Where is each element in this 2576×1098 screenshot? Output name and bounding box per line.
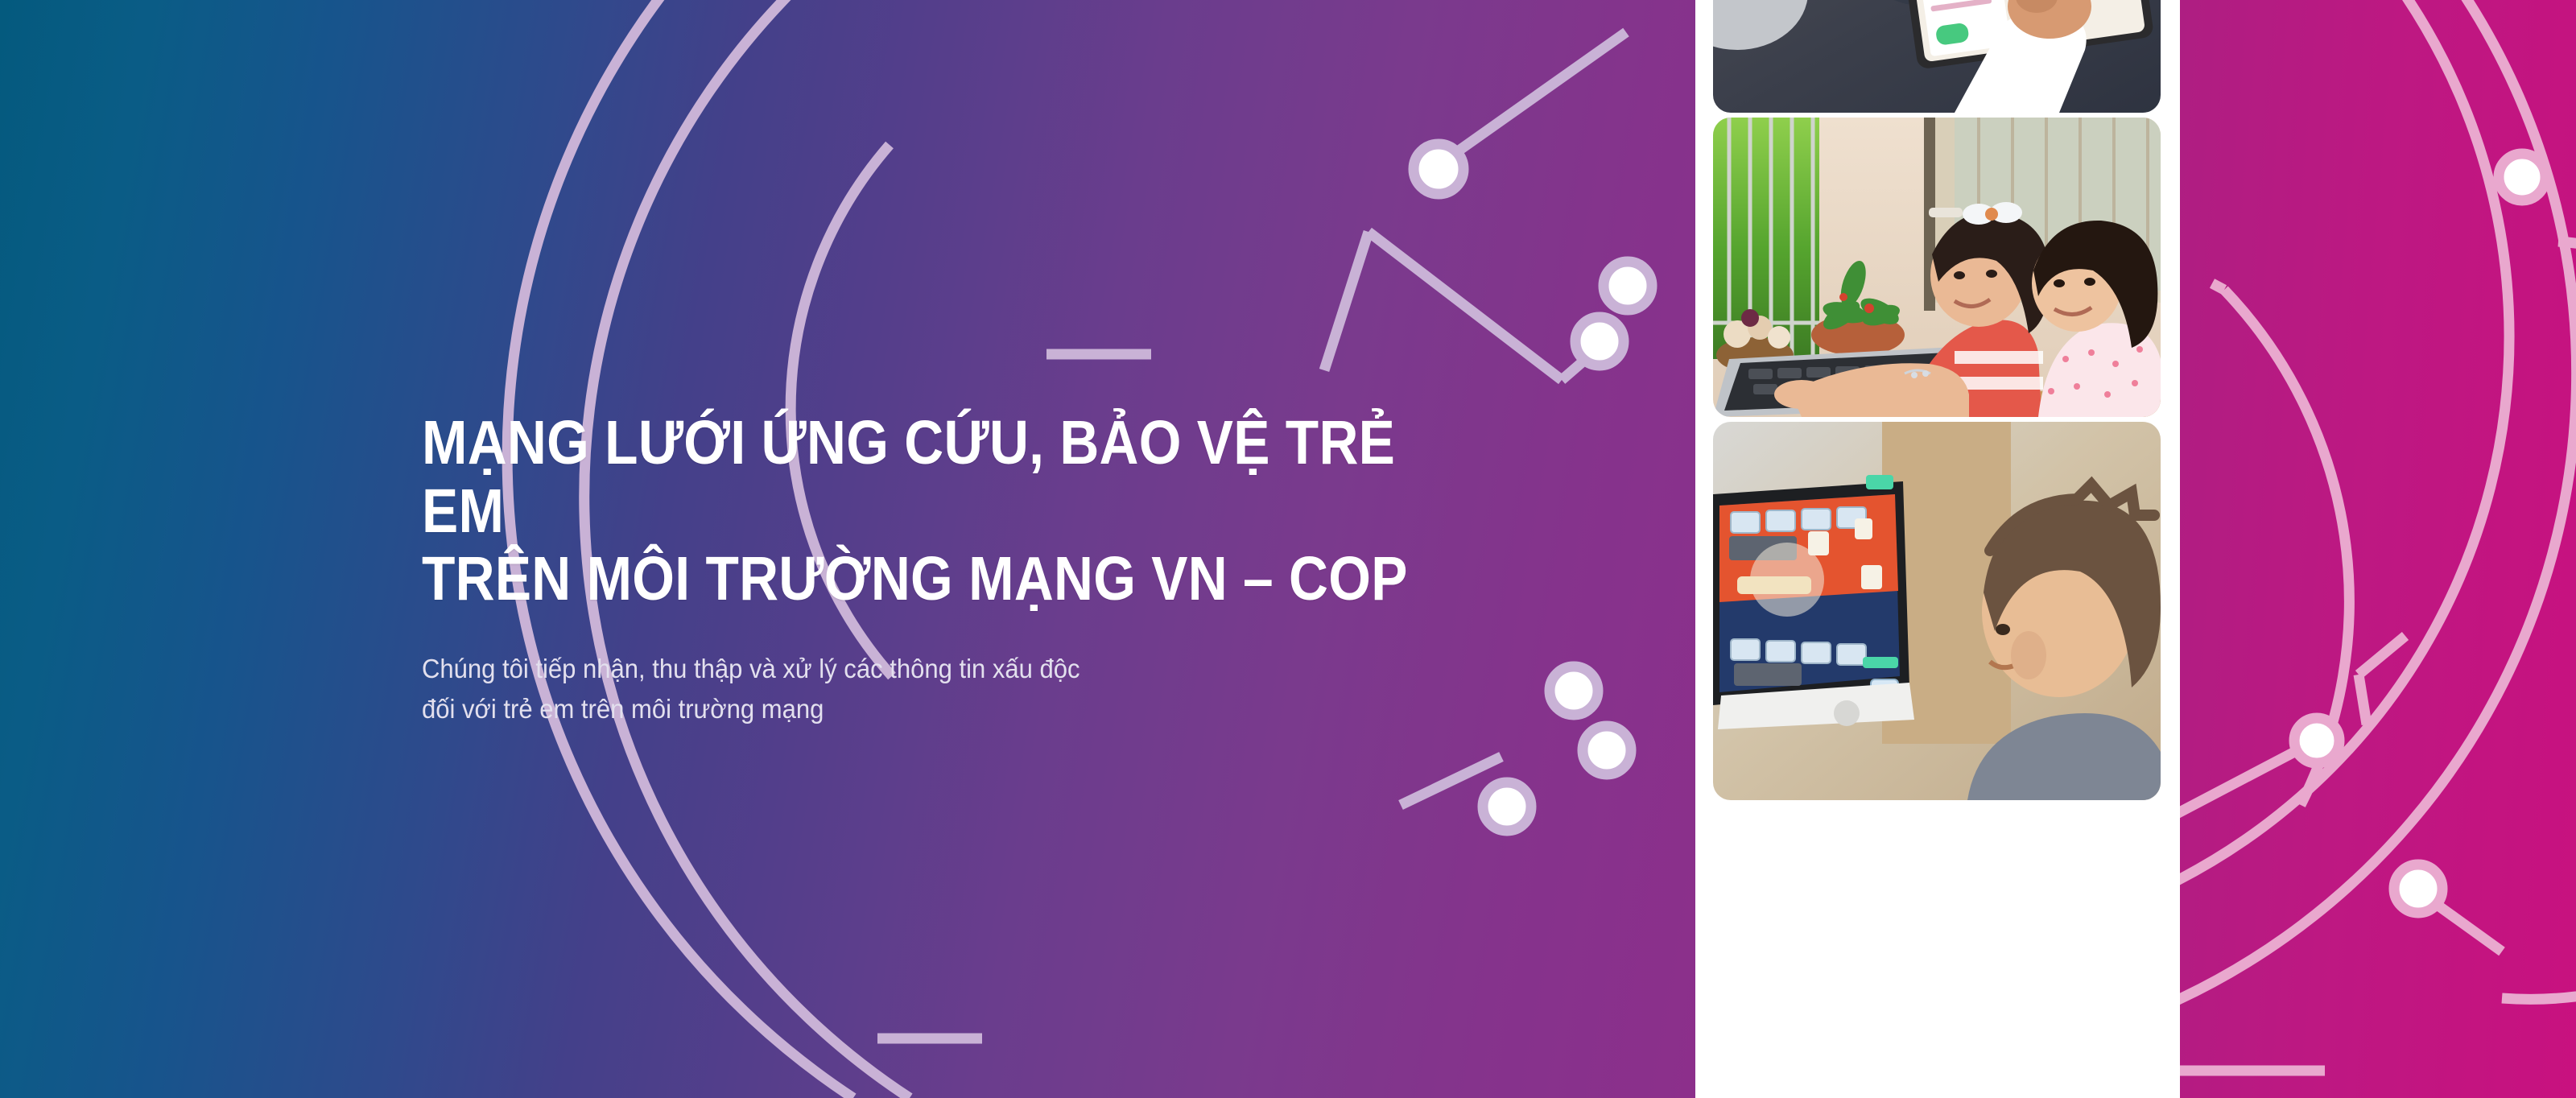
circuit-node (2499, 154, 2545, 200)
hero-gradient-panel: MẠNG LƯỚI ỨNG CỨU, BẢO VỆ TRẺ EM TRÊN MÔ… (0, 0, 1695, 1098)
photo-child-tablet (1713, 0, 2161, 113)
hero-banner: MẠNG LƯỚI ỨNG CỨU, BẢO VỆ TRẺ EM TRÊN MÔ… (0, 0, 2576, 1098)
hero-text-block: MẠNG LƯỚI ỨNG CỨU, BẢO VỆ TRẺ EM TRÊN MÔ… (422, 409, 1589, 729)
circuit-node (1483, 782, 1531, 831)
circuit-node (2294, 718, 2339, 763)
circuit-node (1414, 144, 1463, 194)
page-title: MẠNG LƯỚI ỨNG CỨU, BẢO VỆ TRẺ EM TRÊN MÔ… (422, 409, 1449, 613)
photo-two-girls-laptop (1713, 118, 2161, 417)
circuit-node (2394, 865, 2442, 913)
circuit-node (1583, 726, 1631, 774)
hero-subtitle: Chúng tôi tiếp nhận, thu thập và xử lý c… (422, 649, 1519, 729)
circuit-decoration-right (2180, 0, 2576, 1098)
accent-gradient-panel (2180, 0, 2576, 1098)
circuit-node (1575, 317, 1624, 365)
photo-boy-monitor (1713, 422, 2161, 800)
circuit-node (1604, 262, 1652, 310)
photo-strip (1713, 0, 2161, 1098)
